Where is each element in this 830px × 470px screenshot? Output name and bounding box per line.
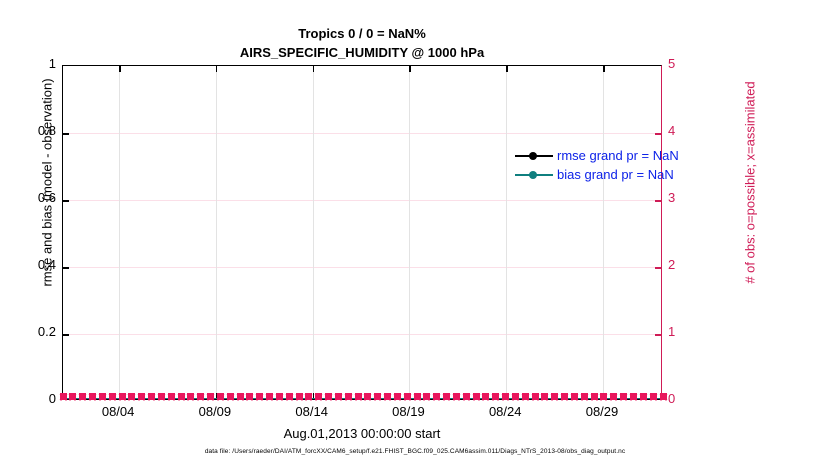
x-axis-title: Aug.01,2013 00:00:00 start	[62, 426, 662, 441]
obs-assimilated-marker	[68, 392, 77, 401]
legend-label-rmse: rmse grand pr = NaN	[557, 148, 679, 163]
y-axis-right-tick-1: 1	[668, 324, 708, 339]
obs-assimilated-marker	[659, 392, 668, 401]
obs-assimilated-marker	[137, 392, 146, 401]
obs-assimilated-marker	[491, 392, 500, 401]
x-axis-tick-2: 08/14	[277, 404, 347, 419]
obs-assimilated-marker	[236, 392, 245, 401]
obs-assimilated-marker	[383, 392, 392, 401]
y-axis-right-tick-0: 0	[668, 391, 708, 406]
obs-assimilated-marker	[324, 392, 333, 401]
obs-assimilated-marker	[59, 392, 68, 401]
horizontal-gridline-4	[63, 133, 661, 134]
legend: rmse grand pr = NaN bias grand pr = NaN	[515, 146, 679, 184]
y-tick-mark-left-2	[63, 267, 69, 269]
obs-assimilated-marker	[275, 392, 284, 401]
obs-assimilated-marker	[442, 392, 451, 401]
x-tick-mark-top-3	[409, 66, 411, 72]
obs-assimilated-marker	[127, 392, 136, 401]
obs-assimilated-marker	[265, 392, 274, 401]
obs-assimilated-marker	[580, 392, 589, 401]
data-file-note: data file: /Users/raeder/DAI/ATM_forcXX/…	[0, 448, 830, 455]
vertical-gridline-5	[603, 66, 604, 399]
obs-assimilated-marker	[649, 392, 658, 401]
obs-assimilated-marker	[570, 392, 579, 401]
obs-assimilated-marker	[609, 392, 618, 401]
y-axis-left-title: rmse and bias (model - observation)	[40, 18, 55, 348]
vertical-gridline-1	[216, 66, 217, 399]
legend-entry-rmse: rmse grand pr = NaN	[515, 146, 679, 165]
x-axis-tick-5: 08/29	[567, 404, 637, 419]
obs-assimilated-marker	[560, 392, 569, 401]
legend-entry-bias: bias grand pr = NaN	[515, 165, 679, 184]
y-tick-mark-right-2	[655, 267, 661, 269]
obs-assimilated-marker	[432, 392, 441, 401]
obs-assimilated-marker	[590, 392, 599, 401]
vertical-gridline-0	[119, 66, 120, 399]
chart-title-line-2: AIRS_SPECIFIC_HUMIDITY @ 1000 hPa	[62, 43, 662, 62]
obs-assimilated-marker	[452, 392, 461, 401]
obs-assimilated-marker	[157, 392, 166, 401]
obs-assimilated-marker	[393, 392, 402, 401]
obs-assimilated-marker	[639, 392, 648, 401]
x-tick-mark-top-4	[506, 66, 508, 72]
obs-assimilated-marker	[413, 392, 422, 401]
obs-assimilated-marker	[295, 392, 304, 401]
obs-assimilated-marker	[629, 392, 638, 401]
horizontal-gridline-1	[63, 334, 661, 335]
legend-marker-bias-icon	[515, 169, 553, 181]
obs-assimilated-marker	[531, 392, 540, 401]
obs-assimilated-marker	[88, 392, 97, 401]
x-axis-tick-3: 08/19	[373, 404, 443, 419]
x-tick-mark-top-5	[603, 66, 605, 72]
obs-assimilated-marker	[481, 392, 490, 401]
obs-assimilated-marker	[206, 392, 215, 401]
x-tick-mark-top-1	[216, 66, 218, 72]
y-tick-mark-right-1	[655, 334, 661, 336]
y-axis-left-tick-0: 0	[4, 391, 56, 406]
obs-assimilated-marker	[511, 392, 520, 401]
obs-assimilated-marker	[108, 392, 117, 401]
y-axis-right-tick-3: 3	[668, 190, 708, 205]
obs-assimilated-marker	[245, 392, 254, 401]
chart-title: Tropics 0 / 0 = NaN% AIRS_SPECIFIC_HUMID…	[62, 24, 662, 62]
obs-assimilated-marker	[255, 392, 264, 401]
chart-title-line-1: Tropics 0 / 0 = NaN%	[62, 24, 662, 43]
y-tick-mark-left-1	[63, 334, 69, 336]
vertical-gridline-4	[506, 66, 507, 399]
obs-assimilated-marker	[521, 392, 530, 401]
x-axis-tick-1: 08/09	[180, 404, 250, 419]
legend-marker-rmse-icon	[515, 150, 553, 162]
obs-assimilated-marker	[167, 392, 176, 401]
obs-assimilated-marker	[550, 392, 559, 401]
legend-label-bias: bias grand pr = NaN	[557, 167, 674, 182]
obs-assimilated-marker	[147, 392, 156, 401]
horizontal-gridline-2	[63, 267, 661, 268]
obs-assimilated-marker	[186, 392, 195, 401]
x-tick-mark-top-0	[119, 66, 121, 72]
series-bias-line	[63, 398, 661, 400]
horizontal-gridline-3	[63, 200, 661, 201]
obs-assimilated-marker	[78, 392, 87, 401]
obs-assimilated-marker	[334, 392, 343, 401]
vertical-gridline-3	[409, 66, 410, 399]
x-axis-tick-4: 08/24	[470, 404, 540, 419]
obs-assimilated-marker	[540, 392, 549, 401]
obs-assimilated-marker	[285, 392, 294, 401]
obs-assimilated-marker	[177, 392, 186, 401]
obs-assimilated-marker	[462, 392, 471, 401]
vertical-gridline-2	[313, 66, 314, 399]
obs-assimilated-marker	[363, 392, 372, 401]
plot-area: rmse grand pr = NaN bias grand pr = NaN	[62, 65, 662, 400]
obs-assimilated-marker	[344, 392, 353, 401]
obs-assimilated-marker	[619, 392, 628, 401]
y-axis-right-tick-4: 4	[668, 123, 708, 138]
y-axis-right-title: # of obs: o=possible; x=assimilated	[743, 18, 758, 348]
y-tick-mark-right-3	[655, 200, 661, 202]
obs-assimilated-marker	[373, 392, 382, 401]
y-tick-mark-left-3	[63, 200, 69, 202]
obs-assimilated-marker	[422, 392, 431, 401]
y-tick-mark-right-4	[655, 133, 661, 135]
y-axis-right-tick-5: 5	[668, 56, 708, 71]
plot-figure: Tropics 0 / 0 = NaN% AIRS_SPECIFIC_HUMID…	[0, 0, 830, 470]
x-tick-mark-top-2	[313, 66, 315, 72]
obs-assimilated-marker	[226, 392, 235, 401]
y-tick-mark-left-4	[63, 133, 69, 135]
obs-assimilated-marker	[472, 392, 481, 401]
y-axis-right-tick-2: 2	[668, 257, 708, 272]
obs-assimilated-marker	[196, 392, 205, 401]
obs-assimilated-marker	[354, 392, 363, 401]
obs-assimilated-marker	[98, 392, 107, 401]
x-axis-tick-0: 08/04	[83, 404, 153, 419]
obs-assimilated-marker	[314, 392, 323, 401]
